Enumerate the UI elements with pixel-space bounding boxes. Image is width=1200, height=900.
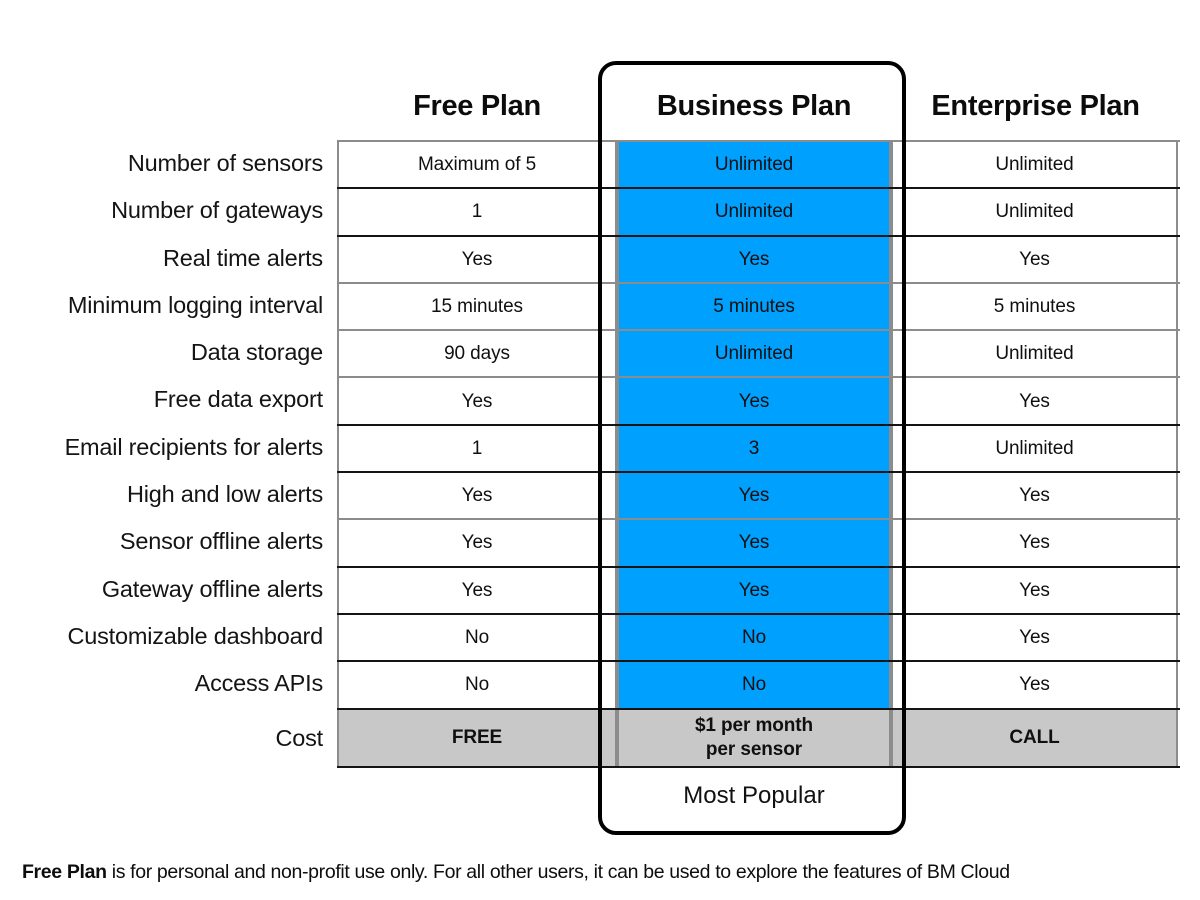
- column-header-business-plan: Business Plan: [617, 84, 891, 128]
- cell-business: 3: [617, 426, 891, 471]
- cell-enterprise: Unlimited: [891, 426, 1178, 471]
- cost-business-line-2: per sensor: [706, 738, 802, 762]
- feature-label: High and low alerts: [0, 471, 330, 518]
- cell-free: Yes: [337, 568, 617, 613]
- cell-cost-enterprise: CALL: [891, 710, 1178, 766]
- table-row: Yes Yes Yes: [337, 566, 1180, 613]
- cell-free: Yes: [337, 237, 617, 282]
- feature-label: Number of gateways: [0, 187, 330, 234]
- cell-free: 90 days: [337, 331, 617, 376]
- table-row: Yes Yes Yes: [337, 376, 1180, 423]
- footnote-bold-prefix: Free Plan: [22, 861, 107, 883]
- table-row: No No Yes: [337, 660, 1180, 707]
- feature-label: Free data export: [0, 376, 330, 423]
- table-row: Yes Yes Yes: [337, 471, 1180, 518]
- cell-business: Yes: [617, 568, 891, 613]
- table-row: Yes Yes Yes: [337, 518, 1180, 565]
- cell-free: Yes: [337, 378, 617, 423]
- feature-label: Sensor offline alerts: [0, 518, 330, 565]
- table-row: Yes Yes Yes: [337, 235, 1180, 282]
- cell-enterprise: 5 minutes: [891, 284, 1178, 329]
- feature-label-column: Number of sensors Number of gateways Rea…: [0, 140, 330, 768]
- table-row: Maximum of 5 Unlimited Unlimited: [337, 140, 1180, 187]
- cell-free: 1: [337, 189, 617, 234]
- cell-free: Yes: [337, 473, 617, 518]
- feature-label: Customizable dashboard: [0, 613, 330, 660]
- most-popular-label: Most Popular: [617, 782, 891, 810]
- cell-cost-business: $1 per month per sensor: [617, 710, 891, 766]
- table-row: 1 3 Unlimited: [337, 424, 1180, 471]
- cell-enterprise: Unlimited: [891, 331, 1178, 376]
- table-row: 90 days Unlimited Unlimited: [337, 329, 1180, 376]
- cell-business: Unlimited: [617, 189, 891, 234]
- feature-label: Access APIs: [0, 660, 330, 707]
- feature-label: Data storage: [0, 329, 330, 376]
- cell-enterprise: Yes: [891, 378, 1178, 423]
- cell-business: 5 minutes: [617, 284, 891, 329]
- column-header-enterprise-plan: Enterprise Plan: [891, 84, 1180, 128]
- cell-enterprise: Unlimited: [891, 189, 1178, 234]
- table-row: 15 minutes 5 minutes 5 minutes: [337, 282, 1180, 329]
- cell-cost-free: FREE: [337, 710, 617, 766]
- footnote-rest: is for personal and non-profit use only.…: [107, 861, 1010, 883]
- cost-business-line-1: $1 per month: [695, 714, 813, 738]
- table-row-cost: FREE $1 per month per sensor CALL: [337, 708, 1180, 768]
- cell-enterprise: Yes: [891, 520, 1178, 565]
- cell-free: No: [337, 662, 617, 707]
- cell-business: Unlimited: [617, 142, 891, 187]
- column-header-free-plan: Free Plan: [337, 84, 617, 128]
- cell-business: Yes: [617, 520, 891, 565]
- cell-free: No: [337, 615, 617, 660]
- feature-label: Email recipients for alerts: [0, 424, 330, 471]
- cell-enterprise: Yes: [891, 662, 1178, 707]
- cell-free: 1: [337, 426, 617, 471]
- cell-enterprise: Yes: [891, 568, 1178, 613]
- cell-enterprise: Yes: [891, 237, 1178, 282]
- cell-business: Yes: [617, 237, 891, 282]
- feature-label: Number of sensors: [0, 140, 330, 187]
- cell-business: Yes: [617, 378, 891, 423]
- feature-label: Minimum logging interval: [0, 282, 330, 329]
- cell-free: 15 minutes: [337, 284, 617, 329]
- cell-enterprise: Yes: [891, 615, 1178, 660]
- cell-business: Yes: [617, 473, 891, 518]
- cell-enterprise: Yes: [891, 473, 1178, 518]
- feature-label-cost: Cost: [0, 708, 330, 768]
- pricing-comparison-page: Free Plan Business Plan Enterprise Plan …: [0, 0, 1200, 900]
- table-row: 1 Unlimited Unlimited: [337, 187, 1180, 234]
- cell-business: No: [617, 615, 891, 660]
- feature-label: Real time alerts: [0, 235, 330, 282]
- table-row: No No Yes: [337, 613, 1180, 660]
- cell-free: Yes: [337, 520, 617, 565]
- cell-business: Unlimited: [617, 331, 891, 376]
- cell-free: Maximum of 5: [337, 142, 617, 187]
- comparison-grid: Maximum of 5 Unlimited Unlimited 1 Unlim…: [337, 140, 1180, 768]
- footnote: Free Plan is for personal and non-profit…: [22, 861, 1192, 884]
- cell-enterprise: Unlimited: [891, 142, 1178, 187]
- cell-business: No: [617, 662, 891, 707]
- feature-label: Gateway offline alerts: [0, 566, 330, 613]
